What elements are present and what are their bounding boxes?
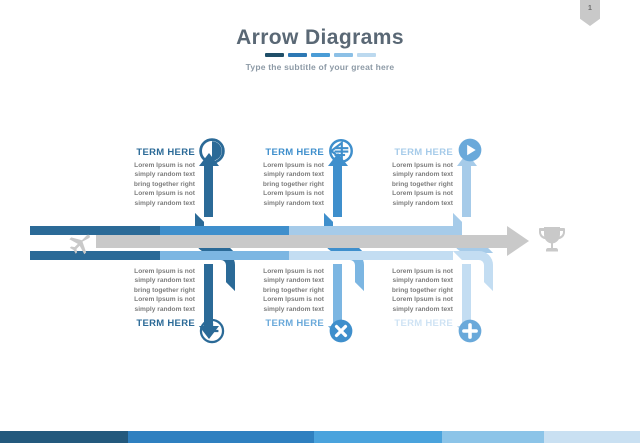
timeline-spine-arrowhead bbox=[507, 226, 529, 256]
top-item-2-body: Lorem Ipsum is not simply random text br… bbox=[335, 161, 453, 208]
bottom-item-0-term: TERM HERE bbox=[77, 318, 195, 329]
connector-elbow bbox=[453, 251, 493, 291]
body-line: Lorem Ipsum is not bbox=[335, 189, 453, 198]
body-line: simply random text bbox=[206, 170, 324, 179]
strip-segment bbox=[314, 431, 442, 443]
page-subtitle: Type the subtitle of your great here bbox=[0, 62, 640, 72]
bottom-item-2-text: Lorem Ipsum is not simply random text br… bbox=[335, 264, 453, 329]
body-line: bring together right bbox=[335, 180, 453, 189]
body-line: Lorem Ipsum is not bbox=[77, 295, 195, 304]
top-item-2-term: TERM HERE bbox=[335, 147, 453, 158]
body-line: bring together right bbox=[206, 286, 324, 295]
body-line: bring together right bbox=[77, 180, 195, 189]
body-line: Lorem Ipsum is not bbox=[206, 295, 324, 304]
body-line: Lorem Ipsum is not bbox=[77, 161, 195, 170]
body-line: Lorem Ipsum is not bbox=[206, 267, 324, 276]
body-line: simply random text bbox=[77, 199, 195, 208]
page-number-badge: 1 bbox=[580, 0, 600, 26]
body-line: bring together right bbox=[77, 286, 195, 295]
body-line: Lorem Ipsum is not bbox=[77, 189, 195, 198]
body-line: simply random text bbox=[335, 170, 453, 179]
body-line: simply random text bbox=[206, 305, 324, 314]
body-line: Lorem Ipsum is not bbox=[206, 189, 324, 198]
timeline-spine bbox=[96, 235, 511, 248]
top-item-1-term: TERM HERE bbox=[206, 147, 324, 158]
play-circle-icon[interactable] bbox=[457, 137, 483, 163]
top-item-0-body: Lorem Ipsum is not simply random text br… bbox=[77, 161, 195, 208]
strip-segment bbox=[128, 431, 314, 443]
page-title: Arrow Diagrams bbox=[0, 26, 640, 50]
body-line: simply random text bbox=[335, 305, 453, 314]
strip-segment bbox=[0, 431, 128, 443]
body-line: Lorem Ipsum is not bbox=[77, 267, 195, 276]
body-line: simply random text bbox=[335, 199, 453, 208]
body-line: Lorem Ipsum is not bbox=[335, 267, 453, 276]
airplane-icon bbox=[64, 228, 92, 256]
title-divider-dashes bbox=[264, 53, 376, 57]
bottom-item-2-body: Lorem Ipsum is not simply random text br… bbox=[335, 267, 453, 314]
connector-bar bbox=[289, 226, 453, 235]
top-item-0-term: TERM HERE bbox=[77, 147, 195, 158]
strip-segment bbox=[544, 431, 640, 443]
top-item-1-body: Lorem Ipsum is not simply random text br… bbox=[206, 161, 324, 208]
body-line: Lorem Ipsum is not bbox=[335, 295, 453, 304]
body-line: Lorem Ipsum is not bbox=[335, 161, 453, 170]
body-line: simply random text bbox=[77, 170, 195, 179]
divider-dash bbox=[334, 53, 353, 57]
body-line: Lorem Ipsum is not bbox=[206, 161, 324, 170]
connector-stem bbox=[462, 166, 471, 217]
divider-dash bbox=[357, 53, 376, 57]
top-item-2-text: TERM HERE Lorem Ipsum is not simply rand… bbox=[335, 147, 453, 208]
divider-dash bbox=[288, 53, 307, 57]
body-line: bring together right bbox=[206, 180, 324, 189]
arrow-diagram: TERM HERE Lorem Ipsum is not simply rand… bbox=[0, 118, 640, 373]
connector-stem bbox=[462, 264, 471, 326]
body-line: simply random text bbox=[206, 199, 324, 208]
divider-dash bbox=[265, 53, 284, 57]
bottom-item-0-text: Lorem Ipsum is not simply random text br… bbox=[77, 264, 195, 329]
connector-bar bbox=[289, 251, 453, 260]
top-item-0-text: TERM HERE Lorem Ipsum is not simply rand… bbox=[77, 147, 195, 208]
divider-dash bbox=[311, 53, 330, 57]
body-line: simply random text bbox=[77, 305, 195, 314]
bottom-item-1-term: TERM HERE bbox=[206, 318, 324, 329]
bottom-item-2-term: TERM HERE bbox=[335, 318, 453, 329]
footer-color-strip bbox=[0, 431, 640, 443]
body-line: simply random text bbox=[206, 276, 324, 285]
page-number-label: 1 bbox=[588, 5, 592, 12]
bottom-item-1-text: Lorem Ipsum is not simply random text br… bbox=[206, 264, 324, 329]
plus-circle-icon[interactable] bbox=[457, 318, 483, 344]
top-item-1-text: TERM HERE Lorem Ipsum is not simply rand… bbox=[206, 147, 324, 208]
strip-segment bbox=[442, 431, 544, 443]
body-line: simply random text bbox=[335, 276, 453, 285]
slide-canvas: 1 Arrow Diagrams Type the subtitle of yo… bbox=[0, 0, 640, 443]
body-line: simply random text bbox=[77, 276, 195, 285]
header-block: Arrow Diagrams Type the subtitle of your… bbox=[0, 26, 640, 72]
trophy-icon bbox=[536, 223, 568, 257]
bottom-item-1-body: Lorem Ipsum is not simply random text br… bbox=[206, 267, 324, 314]
body-line: bring together right bbox=[335, 286, 453, 295]
bottom-item-0-body: Lorem Ipsum is not simply random text br… bbox=[77, 267, 195, 314]
